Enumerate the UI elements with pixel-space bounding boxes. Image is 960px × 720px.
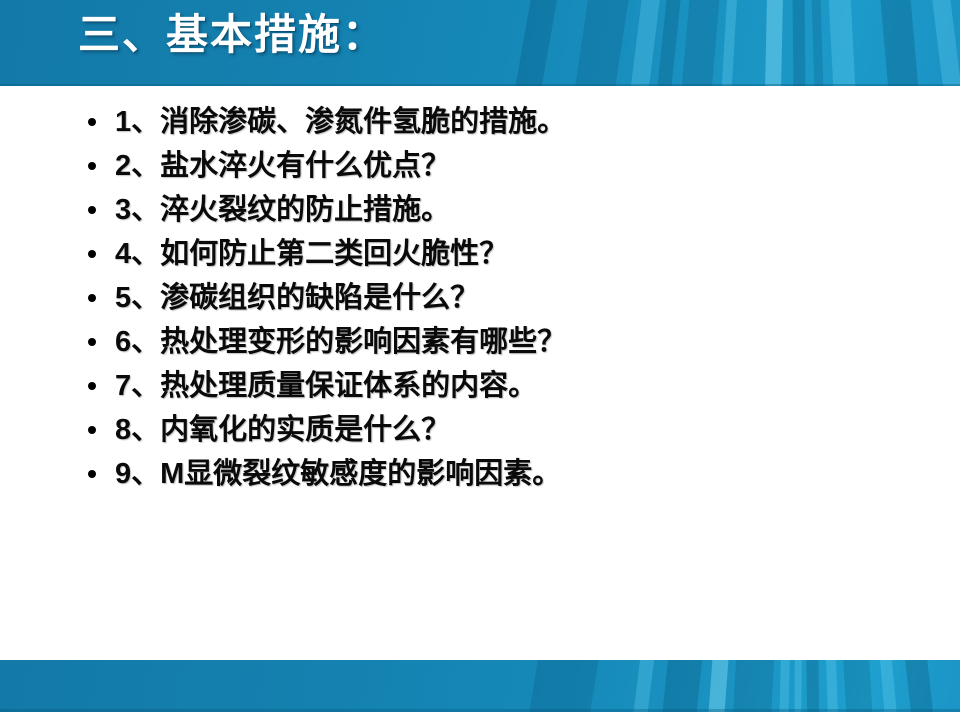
list-item: 4、如何防止第二类回火脆性？: [0, 232, 960, 276]
list-item-label: 3、淬火裂纹的防止措施。: [115, 196, 450, 225]
list-item-label: 5、渗碳组织的缺陷是什么？: [115, 284, 479, 313]
list-item: 9、M显微裂纹敏感度的影响因素。: [0, 452, 960, 496]
ray-streak: [778, 660, 791, 712]
slide-footer-band: [0, 660, 960, 712]
bullet-dot-icon: [88, 162, 96, 170]
ray-streak: [810, 0, 826, 86]
list-item-label: 1、消除渗碳、渗氮件氢脆的措施。: [115, 108, 566, 137]
ray-streak: [876, 660, 902, 712]
list-item: 3、淬火裂纹的防止措施。: [0, 188, 960, 232]
bullet-dot-icon: [88, 294, 96, 302]
list-item: 8、内氧化的实质是什么？: [0, 408, 960, 452]
ray-streak: [900, 660, 940, 712]
list-item: 1、消除渗碳、渗氮件氢脆的措施。: [0, 100, 960, 144]
list-item: 5、渗碳组织的缺陷是什么？: [0, 276, 960, 320]
list-item-label: 8、内氧化的实质是什么？: [115, 416, 450, 445]
list-item: 6、热处理变形的影响因素有哪些？: [0, 320, 960, 364]
bullet-dot-icon: [88, 470, 96, 478]
list-item-label: 2、盐水淬火有什么优点？: [115, 152, 450, 181]
ray-streak: [926, 0, 960, 86]
ray-streak: [840, 660, 876, 712]
page-title: 三、基本措施：: [78, 7, 386, 64]
ray-streak: [794, 660, 802, 712]
footer-ray-decoration: [0, 660, 960, 712]
ray-streak: [763, 0, 784, 86]
ray-streak: [806, 660, 820, 712]
list-item: 2、盐水淬火有什么优点？: [0, 144, 960, 188]
bullet-dot-icon: [88, 250, 96, 258]
bullet-dot-icon: [88, 426, 96, 434]
slide-header-band: 三、基本措施：: [0, 0, 960, 86]
ray-streak: [717, 0, 740, 86]
ray-streak: [704, 660, 732, 712]
ray-streak: [520, 660, 605, 712]
list-item-label: 7、热处理质量保证体系的内容。: [115, 372, 537, 401]
ray-streak: [824, 660, 840, 712]
bullet-dot-icon: [88, 338, 96, 346]
ray-streak: [730, 660, 777, 712]
ray-streak: [876, 0, 925, 86]
ray-streak: [626, 660, 660, 712]
list-item-label: 6、热处理变形的影响因素有哪些？: [115, 328, 566, 357]
bullet-dot-icon: [88, 206, 96, 214]
ray-streak: [501, 0, 565, 86]
ray-streak: [563, 0, 636, 86]
list-item-label: 4、如何防止第二类回火脆性？: [115, 240, 508, 269]
ray-streak: [675, 0, 724, 86]
bullet-dot-icon: [88, 118, 96, 126]
ray-streak: [656, 660, 707, 712]
list-item-label: 9、M显微裂纹敏感度的影响因素。: [115, 460, 561, 489]
list-item: 7、热处理质量保证体系的内容。: [0, 364, 960, 408]
slide: 三、基本措施： 1、消除渗碳、渗氮件氢脆的措施。 2、盐水淬火有什么优点？ 3、…: [0, 0, 960, 720]
ray-streak: [792, 0, 806, 86]
bullet-dot-icon: [88, 382, 96, 390]
ray-streak: [826, 0, 860, 86]
ray-streak: [621, 0, 666, 86]
bullet-list: 1、消除渗碳、渗氮件氢脆的措施。 2、盐水淬火有什么优点？ 3、淬火裂纹的防止措…: [0, 100, 960, 496]
ray-streak: [649, 0, 686, 86]
